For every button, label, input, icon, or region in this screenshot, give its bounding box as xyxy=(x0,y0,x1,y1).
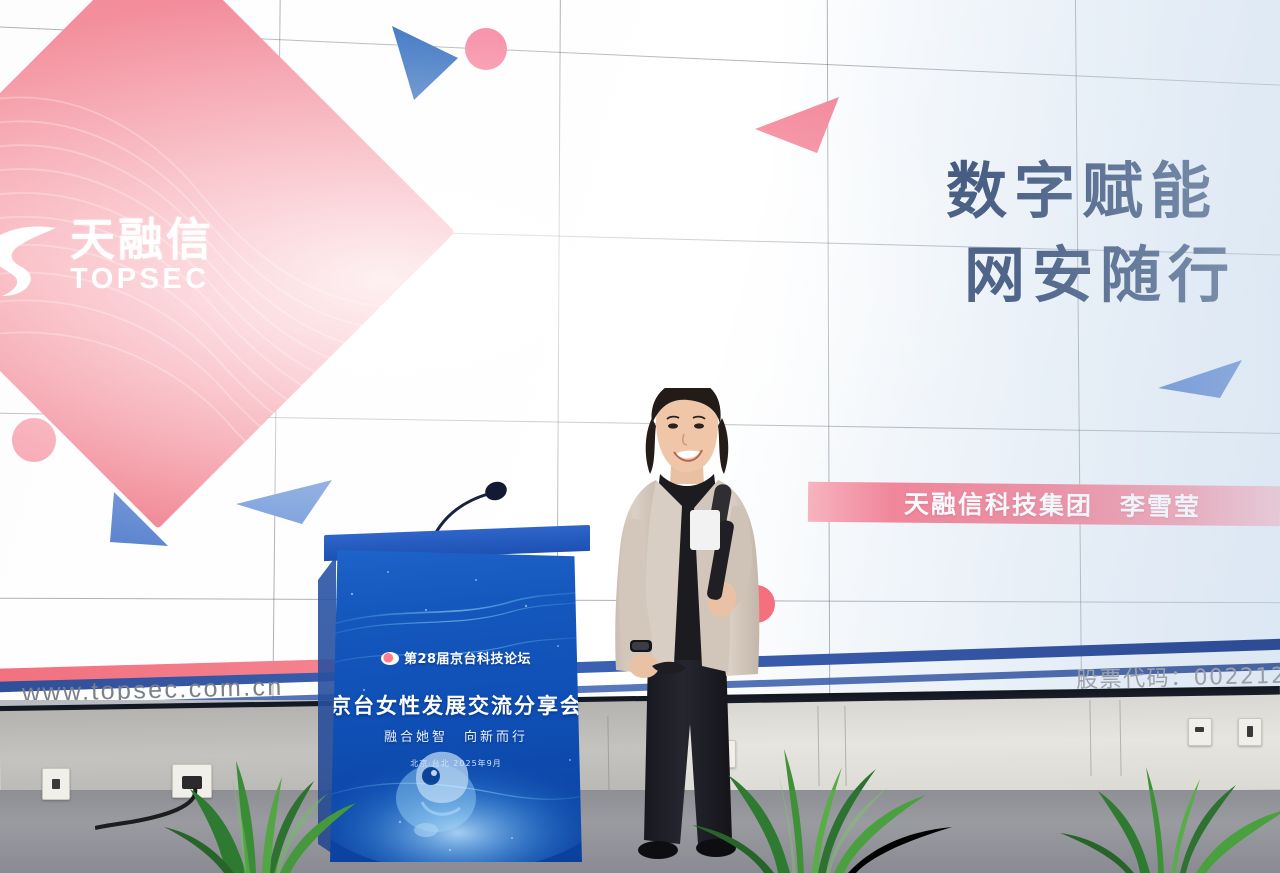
pink-triangle-top-right-icon xyxy=(755,95,841,155)
podium-event-title: 京台女性发展交流分享会 xyxy=(330,690,582,720)
speaker-eye-right xyxy=(694,423,704,428)
topsec-swoosh-icon xyxy=(0,212,64,298)
wall-socket-left[interactable] xyxy=(42,768,70,800)
speaker-hair-side-left xyxy=(646,418,656,474)
pink-dot-top-icon xyxy=(465,28,507,70)
brand-diamond: 天融信 TOPSEC xyxy=(0,22,368,442)
blue-triangle-mid-icon xyxy=(236,478,334,526)
slogan-line-1: 数字赋能 xyxy=(946,150,1218,234)
podium-forum-text: 第28届京台科技论坛 xyxy=(404,652,531,667)
microphone-flag xyxy=(690,510,720,550)
topsec-logo: 天融信 TOPSEC xyxy=(0,207,286,303)
event-slogan: 数字赋能 网安随行 xyxy=(946,150,1218,318)
speaker-hair-side-right xyxy=(718,418,728,474)
foreground-plant-left xyxy=(150,723,410,873)
foreground-plant-center xyxy=(640,723,970,873)
speaker-watch-face xyxy=(632,642,649,650)
conference-stage-photo: 天融信 TOPSEC 数字赋能 网安随行 天融信科技集团 李雪莹 www.top… xyxy=(0,0,1280,873)
panel-seam-vertical xyxy=(1075,0,1083,700)
socket-slot xyxy=(52,779,60,789)
speaker-eye-left xyxy=(668,423,678,428)
blue-triangle-right-icon xyxy=(1158,358,1244,400)
logo-english-text: TOPSEC xyxy=(70,265,214,294)
slogan-line-2: 网安随行 xyxy=(946,234,1236,318)
foreground-plant-right xyxy=(1040,733,1280,873)
forum-emblem-icon xyxy=(381,652,399,665)
blue-triangle-top-icon xyxy=(390,22,460,102)
socket-slot xyxy=(1195,727,1204,732)
logo-chinese-text: 天融信 xyxy=(70,217,214,262)
speaker-name-banner: 天融信科技集团 李雪莹 xyxy=(808,482,1280,527)
podium-forum-label: 第28届京台科技论坛 xyxy=(330,648,582,667)
speaker-name-banner-text: 天融信科技集团 李雪莹 xyxy=(904,485,1201,524)
